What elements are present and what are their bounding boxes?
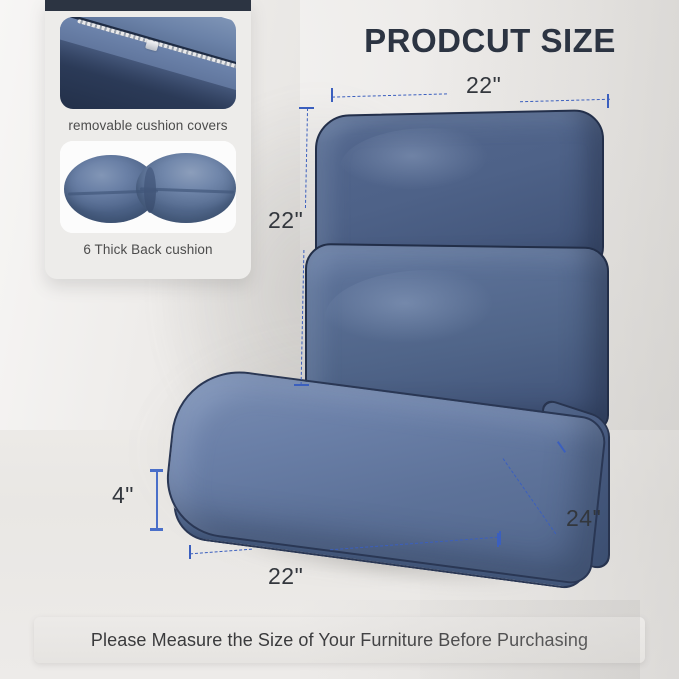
page-title: PRODCUT SIZE (340, 22, 640, 60)
dimension-tick-seat-thickness-top (150, 469, 163, 472)
dimension-tick-back-width-end (607, 94, 609, 108)
dimension-tick-seat-depth-start (499, 531, 501, 545)
dimension-label-back-width: 22" (466, 72, 501, 99)
dimension-tick-back-width-start (331, 88, 333, 102)
cushion-product-illustration (150, 90, 650, 570)
measure-notice-text: Please Measure the Size of Your Furnitur… (91, 630, 588, 651)
dimension-tick-seat-thickness-bottom (150, 528, 163, 531)
dimension-line-seat-thickness (156, 470, 158, 530)
dimension-label-seat-width: 22" (268, 563, 303, 590)
dimension-label-back-height: 22" (268, 207, 303, 234)
measure-notice-banner: Please Measure the Size of Your Furnitur… (34, 617, 645, 663)
dimension-tick-back-height-start (299, 107, 314, 109)
back-cushion-lower-highlight (325, 270, 535, 365)
back-cushion-upper-highlight (340, 128, 520, 208)
product-size-infographic: PRODCUT SIZE removable cushion covers (0, 0, 679, 679)
dimension-label-seat-depth: 24" (566, 505, 601, 532)
dimension-label-seat-thickness: 4" (112, 482, 134, 509)
dimension-tick-seat-width-start (189, 545, 191, 559)
panel-accent-bar (45, 0, 251, 11)
dimension-tick-back-height-end (294, 384, 309, 386)
